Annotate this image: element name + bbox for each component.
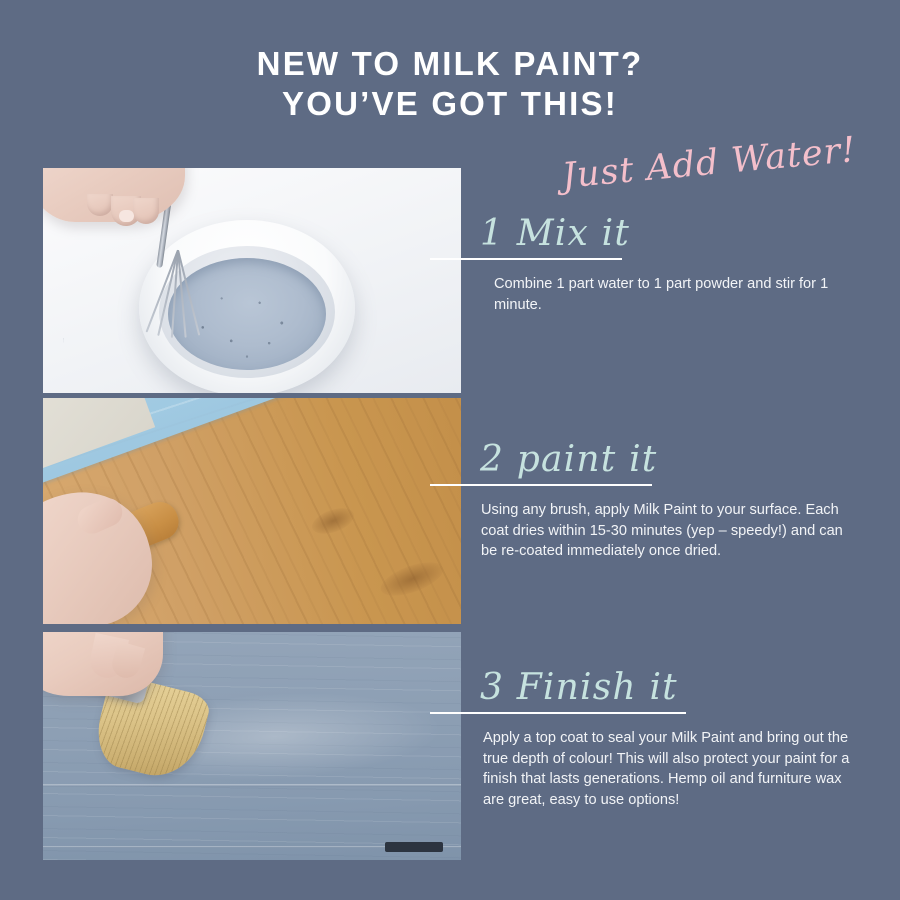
photo-mixing-paint (43, 168, 461, 393)
step-3-heading: 3 Finish it (480, 666, 860, 710)
hand (43, 632, 163, 696)
photo-finishing-coat (43, 632, 461, 860)
step-3-description: Apply a top coat to seal your Milk Paint… (483, 728, 855, 810)
step-1-heading: 1 Mix it (480, 212, 860, 256)
page-title-line-1: NEW TO MILK PAINT? (0, 44, 900, 84)
step-3-divider (430, 712, 686, 714)
whisk-wires (151, 250, 209, 340)
step-3-photo (43, 632, 461, 860)
step-2-divider (430, 484, 652, 486)
step-1-divider (430, 258, 622, 260)
finger (133, 198, 159, 224)
finger (87, 194, 113, 216)
step-1-description: Combine 1 part water to 1 part powder an… (494, 274, 846, 315)
board-seam (43, 784, 461, 787)
page-title: NEW TO MILK PAINT? YOU’VE GOT THIS! (0, 44, 900, 124)
step-1-body: 1 Mix it Combine 1 part water to 1 part … (430, 212, 860, 315)
step-2-body: 2 paint it Using any brush, apply Milk P… (430, 438, 860, 562)
fingernail (119, 210, 134, 222)
step-2-heading: 2 paint it (480, 438, 860, 482)
step-1-photo (43, 168, 461, 393)
photo-painting-board (43, 398, 461, 624)
infographic-page: { "page": { "background_color": "#5E6B84… (0, 0, 900, 900)
dark-edge-detail (385, 842, 443, 852)
step-2-description: Using any brush, apply Milk Paint to you… (481, 500, 861, 562)
page-title-line-2: YOU’VE GOT THIS! (0, 84, 900, 124)
step-2-photo (43, 398, 461, 624)
step-3-body: 3 Finish it Apply a top coat to seal you… (430, 666, 860, 810)
